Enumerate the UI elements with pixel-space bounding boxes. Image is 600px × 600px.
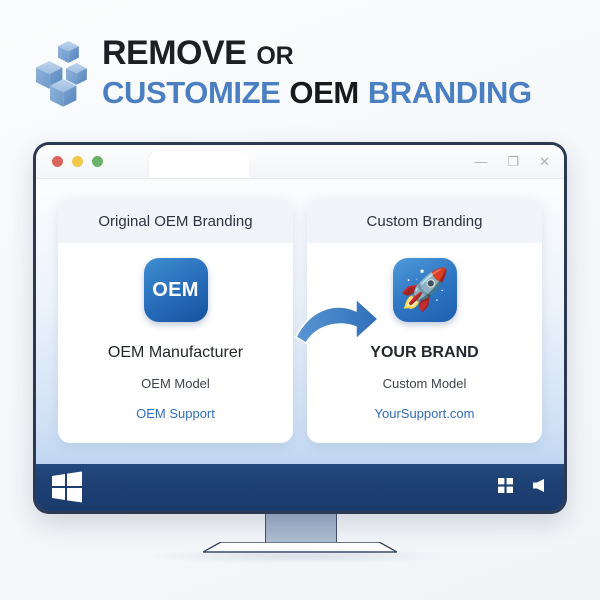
headline-remove: REMOVE [102,36,246,70]
brand-support-link[interactable]: YourSupport.com [375,406,475,421]
panel-custom-branding: Custom Branding 🚀 YOUR BRAND Custom Mode… [307,199,542,443]
windows-start-icon[interactable] [50,471,84,504]
windows-taskbar [36,464,564,511]
oem-logo-text: OEM [152,279,198,302]
monitor-frame: — ❐ ✕ Original OEM Branding OEM OEM Manu… [33,142,567,514]
monitor-stand-neck [265,514,337,542]
close-dot-icon[interactable] [52,156,63,167]
headline-line-1: REMOVE OR [102,36,532,70]
window-controls: — ❐ ✕ [474,145,550,178]
minimize-icon[interactable]: — [474,155,487,168]
speaker-icon[interactable] [531,478,548,498]
brand-model: OEM Model [141,376,210,391]
desk-shadow [150,548,450,564]
panel-header: Custom Branding [307,199,542,243]
headline-customize: CUSTOMIZE [102,77,280,108]
minimize-dot-icon[interactable] [72,156,83,167]
panel-title: Custom Branding [367,213,483,230]
rocket-logo-tile: 🚀 [393,258,457,322]
browser-tab[interactable] [149,151,249,178]
poster-canvas: REMOVE OR CUSTOMIZE OEM BRANDING [0,0,600,600]
brand-model: Custom Model [383,376,467,391]
system-tray [498,478,548,498]
panel-original-oem: Original OEM Branding OEM OEM Manufactur… [58,199,293,443]
headline-oem: OEM [289,77,358,108]
maximize-icon[interactable]: ❐ [507,155,519,168]
close-icon[interactable]: ✕ [539,155,550,168]
zoom-dot-icon[interactable] [92,156,103,167]
brand-name: YOUR BRAND [370,344,478,362]
task-view-icon[interactable] [498,478,513,498]
traffic-lights [52,156,103,167]
cubes-icon [34,39,96,109]
rocket-icon: 🚀 [400,270,450,310]
brand-name: OEM Manufacturer [108,344,243,362]
panel-body: 🚀 YOUR BRAND Custom Model YourSupport.co… [307,243,542,443]
panel-body: OEM OEM Manufacturer OEM Model OEM Suppo… [58,243,293,443]
comparison-panels: Original OEM Branding OEM OEM Manufactur… [36,178,564,464]
brand-support-link[interactable]: OEM Support [136,406,215,421]
panel-title: Original OEM Branding [98,213,252,230]
headline-group: REMOVE OR CUSTOMIZE OEM BRANDING [102,36,532,108]
window-titlebar: — ❐ ✕ [36,145,564,179]
headline-line-2: CUSTOMIZE OEM BRANDING [102,77,532,108]
headline-or: OR [256,44,293,69]
headline-branding: BRANDING [368,77,532,108]
oem-logo-tile: OEM [144,258,208,322]
header-banner: REMOVE OR CUSTOMIZE OEM BRANDING [0,22,600,122]
monitor-screen: — ❐ ✕ Original OEM Branding OEM OEM Manu… [36,145,564,511]
panel-header: Original OEM Branding [58,199,293,243]
